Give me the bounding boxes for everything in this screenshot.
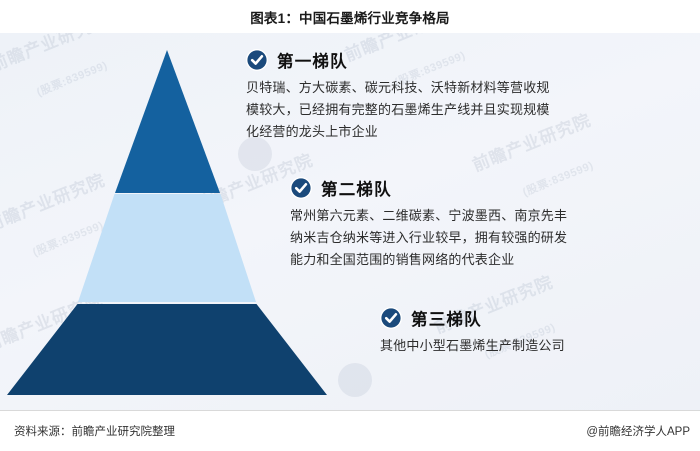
tier-1-title: 第一梯队 xyxy=(277,48,348,72)
figure-title-bar: 图表1：中国石墨烯行业竞争格局 xyxy=(0,0,700,33)
check-circle-icon xyxy=(380,307,402,329)
tier-block-2: 第二梯队 常州第六元素、二维碳素、宁波墨西、南京先丰 纳米吉仓纳米等进入行业较早… xyxy=(290,176,567,271)
tier-descriptions: 第一梯队 贝特瑞、方大碳素、碳元科技、沃特新材料等营收规 模较大，已经拥有完整的… xyxy=(246,33,700,410)
pyramid-tier-1 xyxy=(115,50,220,193)
check-circle-icon xyxy=(246,49,268,71)
tier-block-1: 第一梯队 贝特瑞、方大碳素、碳元科技、沃特新材料等营收规 模较大，已经拥有完整的… xyxy=(246,48,550,143)
chart-figure: 图表1：中国石墨烯行业竞争格局 前瞻产业研究院 (股票:839599) 前瞻产业… xyxy=(0,0,700,450)
pyramid-tier-2 xyxy=(78,194,256,302)
tier-2-header: 第二梯队 xyxy=(290,176,567,200)
tier-2-title: 第二梯队 xyxy=(321,176,392,200)
tier-1-body: 贝特瑞、方大碳素、碳元科技、沃特新材料等营收规 模较大，已经拥有完整的石墨烯生产… xyxy=(246,77,550,143)
page-title: 图表1：中国石墨烯行业竞争格局 xyxy=(250,7,450,27)
tier-1-header: 第一梯队 xyxy=(246,48,550,72)
tier-1-line: 贝特瑞、方大碳素、碳元科技、沃特新材料等营收规 xyxy=(246,77,550,99)
figure-footer: 资料来源：前瞻产业研究院整理 @前瞻经济学人APP xyxy=(0,410,700,451)
source-text: 资料来源：前瞻产业研究院整理 xyxy=(14,423,175,439)
check-circle-icon xyxy=(290,177,312,199)
tier-3-title: 第三梯队 xyxy=(411,306,482,330)
tier-block-3: 第三梯队 其他中小型石墨烯生产制造公司 xyxy=(380,306,565,357)
tier-3-body: 其他中小型石墨烯生产制造公司 xyxy=(380,335,565,357)
app-credit: @前瞻经济学人APP xyxy=(586,423,690,439)
tier-1-line: 化经营的龙头上市企业 xyxy=(246,121,550,143)
tier-2-line: 纳米吉仓纳米等进入行业较早，拥有较强的研发 xyxy=(290,227,567,249)
tier-2-body: 常州第六元素、二维碳素、宁波墨西、南京先丰 纳米吉仓纳米等进入行业较早，拥有较强… xyxy=(290,205,567,271)
tier-2-line: 能力和全国范围的销售网络的代表企业 xyxy=(290,249,567,271)
tier-3-header: 第三梯队 xyxy=(380,306,565,330)
tier-1-line: 模较大，已经拥有完整的石墨烯生产线并且实现规模 xyxy=(246,99,550,121)
chart-canvas: 前瞻产业研究院 (股票:839599) 前瞻产业研究院 (股票:839599) … xyxy=(0,33,700,410)
tier-3-line: 其他中小型石墨烯生产制造公司 xyxy=(380,335,565,357)
tier-2-line: 常州第六元素、二维碳素、宁波墨西、南京先丰 xyxy=(290,205,567,227)
